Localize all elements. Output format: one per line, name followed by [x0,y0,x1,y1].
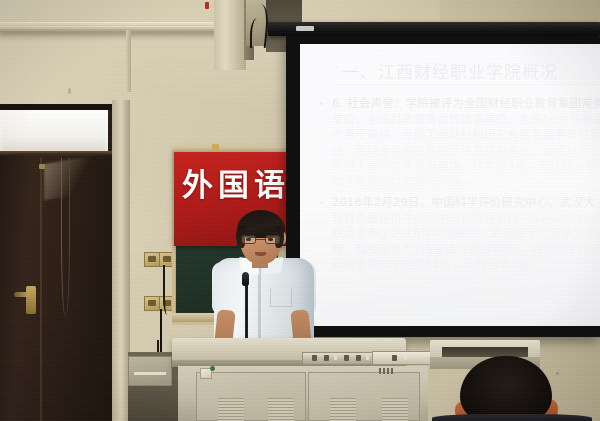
control-led [404,356,407,360]
shirt-placket [258,266,261,346]
projection-screen-surface: 一、江西财经职业学院概况 6. 社会声誉：学院被评为全国财经职业教育集团常务理事… [300,44,600,326]
control-button[interactable] [392,355,397,361]
slide-line: 教育质量评价中心和中国科教评价网（www.nseac） [332,211,600,227]
indicator-light [205,2,209,9]
door-transom-bottom-bar [0,151,116,155]
cabinet-vent [382,398,408,421]
wall-speck [556,372,559,375]
audience-shoulders [432,414,592,421]
ceiling-post [126,30,131,92]
podium-side-slot [134,372,166,375]
banner-text: 外国语 [174,160,286,205]
control-button[interactable] [344,355,349,361]
microphone-stem [245,278,248,342]
side-desk-recess [442,347,528,357]
slide-bullet: 6. 社会声誉：学院被评为全国财经职业教育集团常务理事 单位、全国财政教育合作理… [310,96,600,189]
control-button[interactable] [312,355,317,361]
slide-line: 市骨干高校、全国工商联财税研究会常务理事单位第100 [332,127,600,143]
slide-line: 单位、全国财政教育合作理事单位、全国50所非省会城 [332,112,600,128]
podium-status-led [210,366,215,371]
slide-line: 位…连续多年被省教育厅评为优秀高校，连续10年、 [332,143,600,159]
glasses-bridge [256,239,265,240]
control-led [366,356,369,360]
cabinet-vent [330,398,356,421]
slide-line: 实行十余项改革建设举措、获大奖4项，在江西省创 [332,158,600,174]
photograph-scene: 外国语 一、江西财经职业学院概况 6. 社会声誉：学院被评为全国财经职业教育集团… [0,0,600,421]
slide-line: 联合发布了2016年中国高校（高职高专）竞争力排行 [332,226,600,242]
screen-housing-tab [296,26,314,31]
ceiling-rail-shadow [0,32,236,42]
speaker-eye-left [246,238,251,241]
shirt-pocket [270,288,292,307]
wall-speck [68,88,71,94]
wall-outlet[interactable] [144,252,160,267]
slide-line: 6. 社会声誉：学院被评为全国财经职业教育集团常务理事 [332,96,600,112]
cabinet-vent [268,398,294,421]
door-handle-lever-icon[interactable] [14,292,30,297]
bullet-marker-icon [320,102,323,105]
wall-pillar [214,0,246,70]
speaker-mouth [255,252,266,256]
bullet-marker-icon [320,201,323,204]
banner-clip [212,144,219,150]
speaker-brow-right [266,232,278,234]
cabinet-vent [218,398,244,421]
control-led [334,356,337,360]
screen-housing [268,22,600,36]
door-closer-rod [61,158,70,318]
slide-line: 榜，我校竞争力为5星级（最高等级），在全国1338所 [332,242,600,258]
slide-line: 出了教育部财政部的赞扬。 [332,174,600,190]
control-button[interactable] [324,355,329,361]
speaker-eye-right [268,238,273,241]
slide-line: 2016年2月29日，中国科学评价研究中心、武汉大 [332,195,600,211]
slide-title-underline [332,84,600,85]
podium-brand-logo [379,368,395,374]
door-panel-seam [40,158,42,421]
door-transom-glass [0,110,108,154]
slide-line: 职高专院校中排第51名，江西省第1名。 [332,257,600,273]
slide-bullet: 2016年2月29日，中国科学评价研究中心、武汉大 教育质量评价中心和中国科教评… [310,195,600,273]
door-latch [39,164,45,169]
banner-top-rail [174,146,286,152]
slide-title: 一、江西财经职业学院概况 [342,58,592,83]
projector-cable-loop [250,18,262,48]
slide-body: 6. 社会声誉：学院被评为全国财经职业教育集团常务理事 单位、全国财政教育合作理… [310,96,600,279]
microphone-icon[interactable] [242,272,249,286]
wall-outlet[interactable] [144,296,160,311]
speaker-brow-left [244,232,256,234]
control-button[interactable] [356,355,361,361]
door-handle-icon[interactable] [26,286,36,314]
podium-side-panel[interactable] [128,356,172,386]
